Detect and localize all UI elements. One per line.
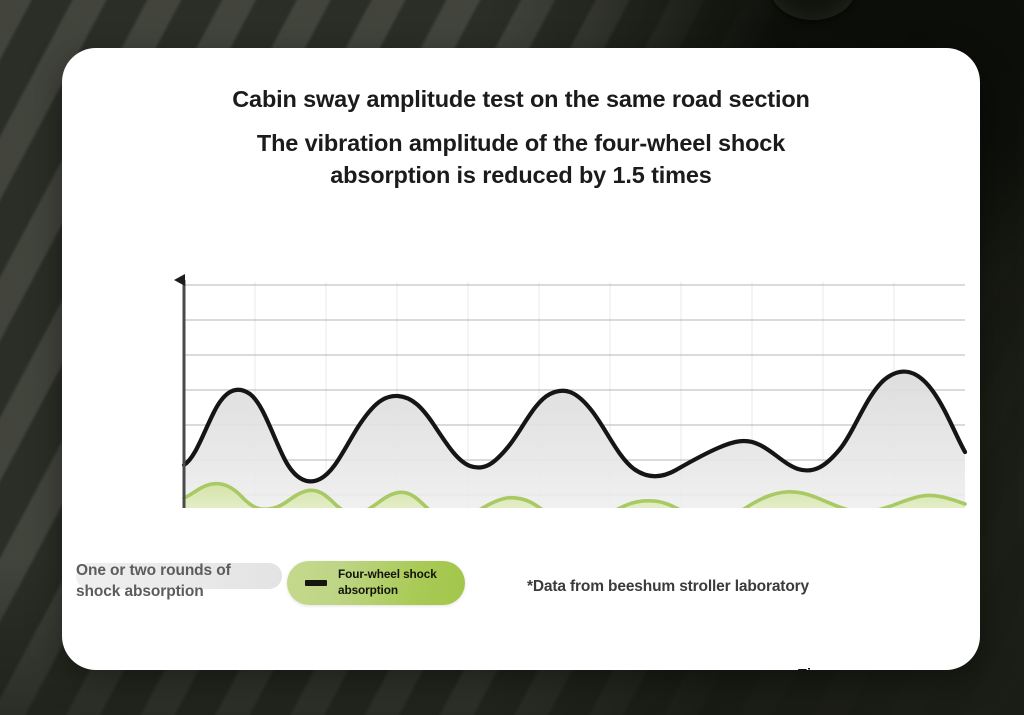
card-heading-block: Cabin sway amplitude test on the same ro… bbox=[62, 88, 980, 191]
legend-gray-label-line-2: shock absorption bbox=[76, 583, 204, 600]
legend-green-label-line-2: absorption bbox=[338, 583, 398, 597]
info-card: Cabin sway amplitude test on the same ro… bbox=[62, 48, 980, 670]
legend-item-four-wheel[interactable]: Four-wheel shock absorption bbox=[287, 561, 465, 605]
page-subtitle: The vibration amplitude of the four-whee… bbox=[62, 127, 980, 192]
legend-gray-label-line-1: One or two rounds of bbox=[76, 562, 231, 579]
legend-gray-label: One or two rounds of shock absorption bbox=[76, 561, 288, 602]
chart-legend: One or two rounds of shock absorption Fo… bbox=[62, 553, 980, 623]
legend-green-label: Four-wheel shock absorption bbox=[338, 567, 465, 598]
chart-x-axis-label: Time bbox=[798, 667, 833, 670]
chart-plot bbox=[62, 208, 980, 508]
legend-dash-icon bbox=[305, 580, 327, 586]
page-subtitle-line-2: absorption is reduced by 1.5 times bbox=[62, 159, 980, 191]
legend-item-one-or-two-rounds[interactable]: One or two rounds of shock absorption bbox=[76, 561, 288, 602]
page-subtitle-line-1: The vibration amplitude of the four-whee… bbox=[62, 127, 980, 159]
legend-green-label-line-1: Four-wheel shock bbox=[338, 567, 437, 581]
chart-container: Damping rate（RMS） Time bbox=[62, 208, 980, 508]
chart-footnote: *Data from beeshum stroller laboratory bbox=[527, 578, 809, 596]
page-title: Cabin sway amplitude test on the same ro… bbox=[62, 88, 980, 112]
